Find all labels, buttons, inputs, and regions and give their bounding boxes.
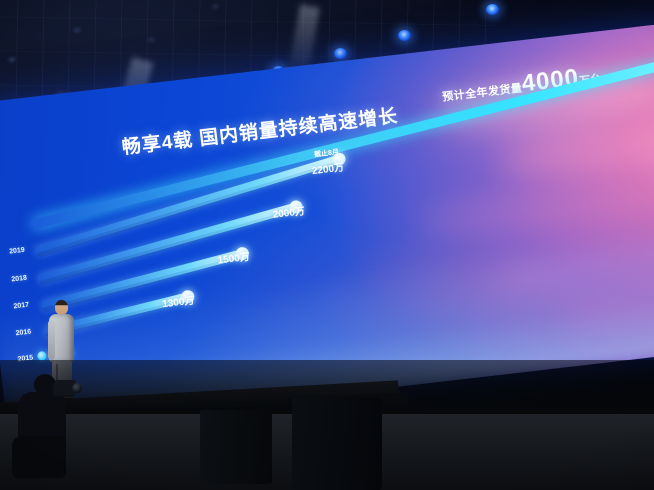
presenter-head (55, 300, 68, 315)
year-label-2018: 2018 (11, 275, 27, 284)
camera-lens-icon (72, 383, 82, 393)
stage-photo: 畅享4载 国内销量持续高速增长 预计全年发货量4000万台 截止8月 2200万… (0, 0, 654, 490)
year-label-2016: 2016 (15, 329, 31, 338)
bar-value-2017: 1500万 (217, 248, 251, 267)
year-label-2017: 2017 (13, 302, 29, 311)
stage-par-light (486, 4, 499, 15)
bar-value-2018: 2000万 (272, 202, 306, 221)
bar-value-2016: 1300万 (161, 292, 195, 311)
photographer (6, 374, 84, 484)
stage-speaker (292, 398, 382, 490)
stage-speaker (200, 410, 272, 484)
slide-title: 畅享4载 国内销量持续高速增长 (120, 101, 399, 160)
photographer-legs (12, 436, 66, 478)
stage-par-light (398, 30, 411, 41)
presenter-arm (48, 320, 55, 360)
bar-value-2019: 2200万 (311, 158, 345, 177)
stage-par-light (334, 48, 347, 59)
year-label-2019: 2019 (9, 247, 25, 256)
